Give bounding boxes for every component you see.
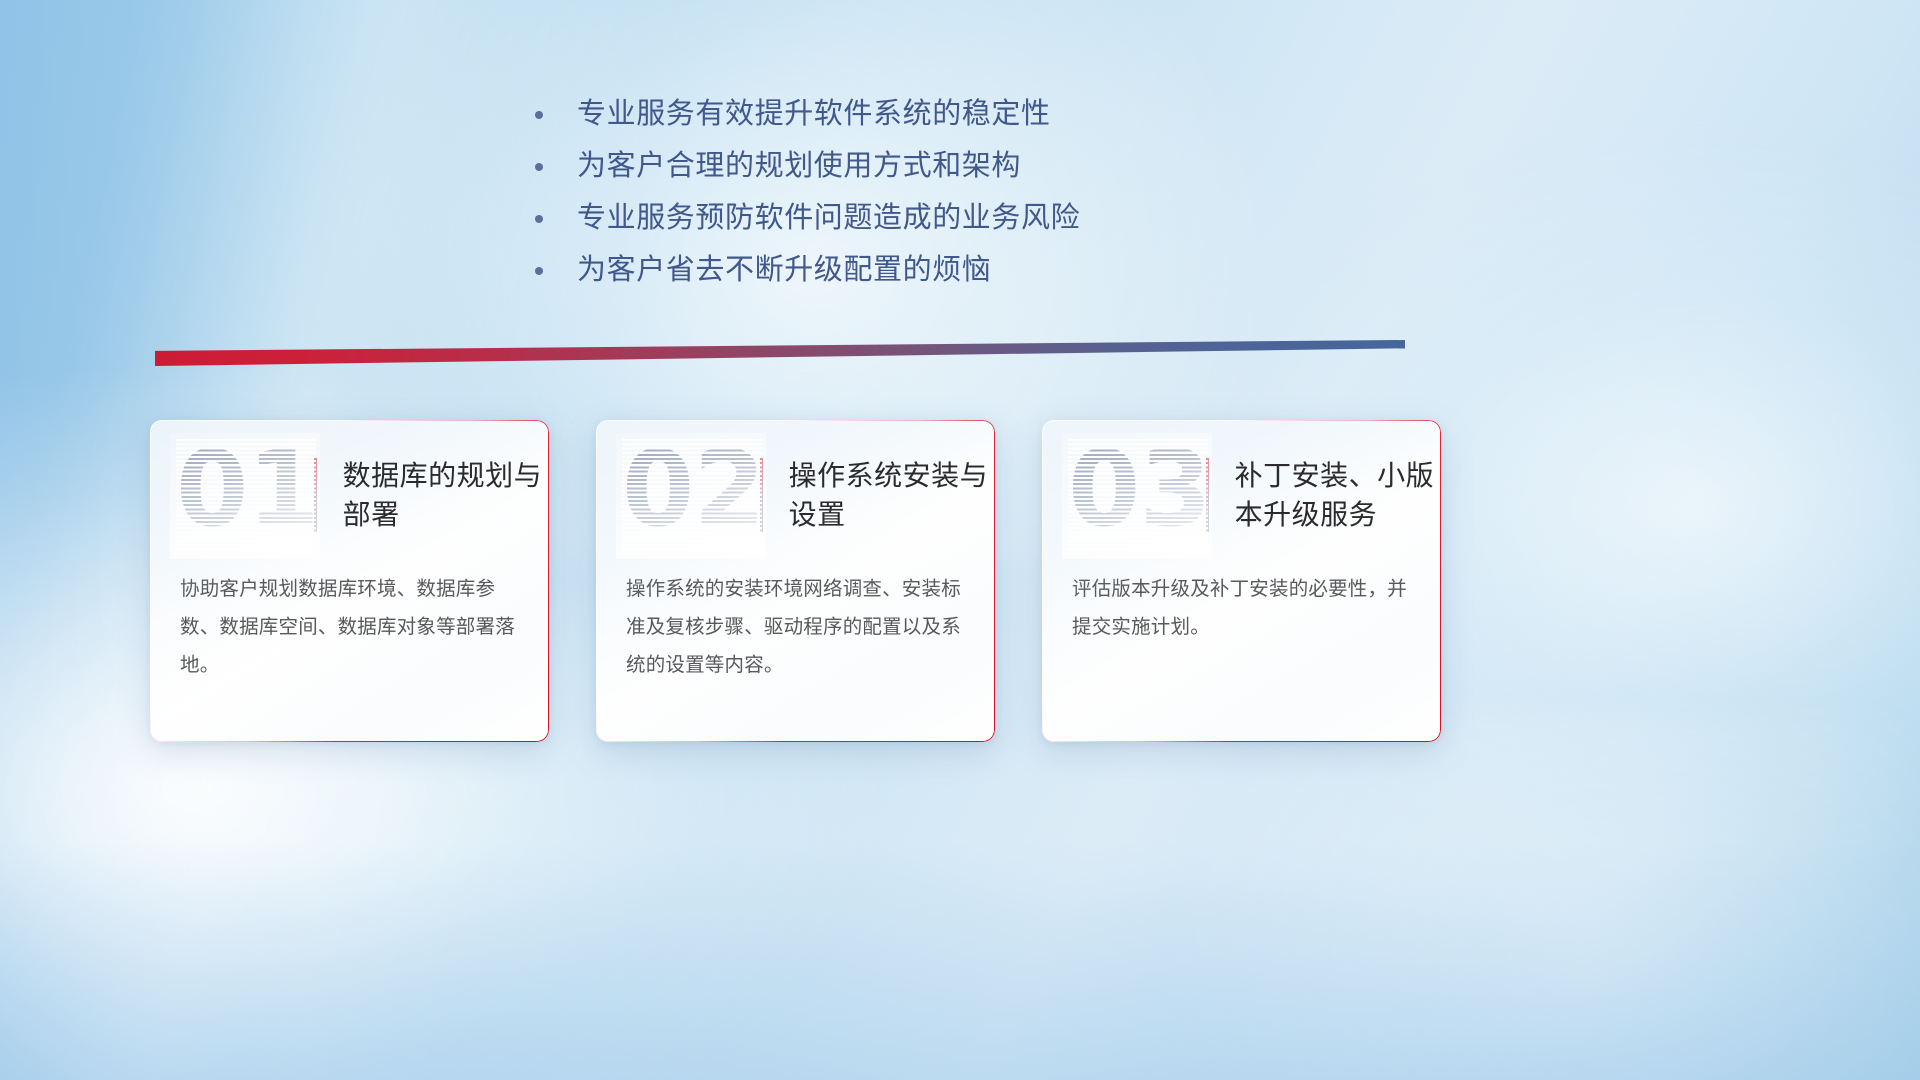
bullet-item: 为客户合理的规划使用方式和架构	[535, 140, 1080, 192]
card-number-text: 03	[1068, 437, 1211, 541]
card-number-watermark: 01	[176, 443, 308, 547]
bullet-item: 为客户省去不断升级配置的烦恼	[535, 244, 1080, 296]
card-title: 补丁安装、小版本升级服务	[1235, 456, 1441, 534]
bullet-dot-icon	[535, 215, 543, 223]
service-card-list: 01 数据库的规划与部署 协助客户规划数据库环境、数据库参数、数据库空间、数据库…	[150, 420, 1441, 742]
card-number-watermark: 03	[1068, 443, 1200, 547]
bullet-item: 专业服务有效提升软件系统的稳定性	[535, 88, 1080, 140]
card-number-text: 01	[176, 437, 319, 541]
section-divider	[155, 340, 1405, 366]
card-title: 数据库的规划与部署	[343, 456, 549, 534]
card-header: 02 操作系统安装与设置	[596, 420, 995, 570]
bullet-label: 专业服务有效提升软件系统的稳定性	[577, 100, 1051, 129]
card-header: 03 补丁安装、小版本升级服务	[1042, 420, 1441, 570]
card-header: 01 数据库的规划与部署	[150, 420, 549, 570]
service-card[interactable]: 02 操作系统安装与设置 操作系统的安装环境网络调查、安装标准及复核步骤、驱动程…	[596, 420, 995, 742]
bullet-dot-icon	[535, 111, 543, 119]
bullet-dot-icon	[535, 163, 543, 171]
divider-gradient-wedge	[155, 340, 1405, 366]
card-number-watermark: 02	[622, 443, 754, 547]
bullet-label: 为客户合理的规划使用方式和架构	[577, 152, 1021, 181]
card-body-text: 评估版本升级及补丁安装的必要性，并提交实施计划。	[1042, 570, 1441, 646]
bullet-label: 专业服务预防软件问题造成的业务风险	[577, 204, 1080, 233]
service-card[interactable]: 03 补丁安装、小版本升级服务 评估版本升级及补丁安装的必要性，并提交实施计划。	[1042, 420, 1441, 742]
card-title: 操作系统安装与设置	[789, 456, 995, 534]
service-card[interactable]: 01 数据库的规划与部署 协助客户规划数据库环境、数据库参数、数据库空间、数据库…	[150, 420, 549, 742]
bullet-item: 专业服务预防软件问题造成的业务风险	[535, 192, 1080, 244]
background-bottom-tint	[0, 842, 1920, 1080]
benefits-bullet-list: 专业服务有效提升软件系统的稳定性 为客户合理的规划使用方式和架构 专业服务预防软…	[535, 88, 1080, 296]
card-body-text: 操作系统的安装环境网络调查、安装标准及复核步骤、驱动程序的配置以及系统的设置等内…	[596, 570, 995, 684]
bullet-label: 为客户省去不断升级配置的烦恼	[577, 256, 991, 285]
card-number-text: 02	[622, 437, 765, 541]
card-body-text: 协助客户规划数据库环境、数据库参数、数据库空间、数据库对象等部署落地。	[150, 570, 549, 684]
bullet-dot-icon	[535, 267, 543, 275]
